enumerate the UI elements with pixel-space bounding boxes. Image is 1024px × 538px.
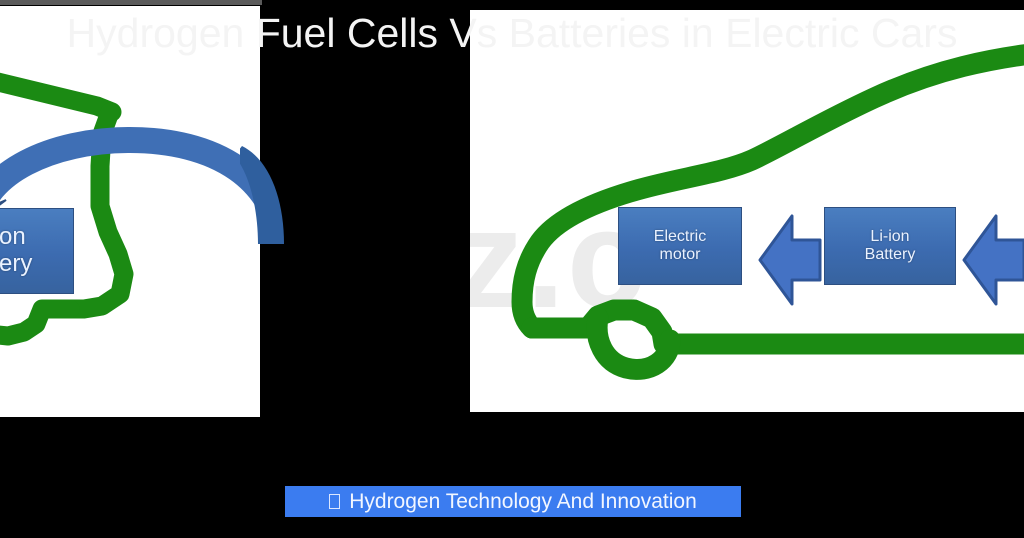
screenshot-frame: ma on (0, 0, 1024, 538)
electric-motor-box: Electric motor (618, 207, 742, 285)
channel-badge-label: Hydrogen Technology And Innovation (349, 490, 697, 514)
li-ion-battery-box-cropped: on ery (0, 208, 74, 294)
li-ion-battery-box: Li-ion Battery (824, 207, 956, 285)
electric-motor-line-1: Electric (654, 228, 706, 246)
battery-box-line-1: on (0, 224, 26, 251)
right-diagram-panel: z.c Electric (470, 10, 1024, 412)
charger-to-battery-arrow-icon (962, 208, 1024, 312)
curved-arrow-overflow (240, 140, 290, 255)
battery-box-line-2: ery (0, 251, 32, 278)
top-edge-sliver (0, 0, 262, 5)
missing-glyph-box-icon (329, 494, 340, 509)
page-title: Hydrogen Fuel Cells Vs Batteries in Elec… (0, 10, 1024, 57)
channel-badge[interactable]: Hydrogen Technology And Innovation (285, 486, 741, 517)
li-ion-battery-line-1: Li-ion (870, 228, 909, 246)
li-ion-battery-line-2: Battery (865, 246, 916, 264)
battery-to-motor-arrow-icon (758, 208, 824, 312)
left-diagram-panel: ma on (0, 6, 260, 417)
caption-area (0, 424, 1024, 538)
electric-motor-line-2: motor (660, 246, 701, 264)
